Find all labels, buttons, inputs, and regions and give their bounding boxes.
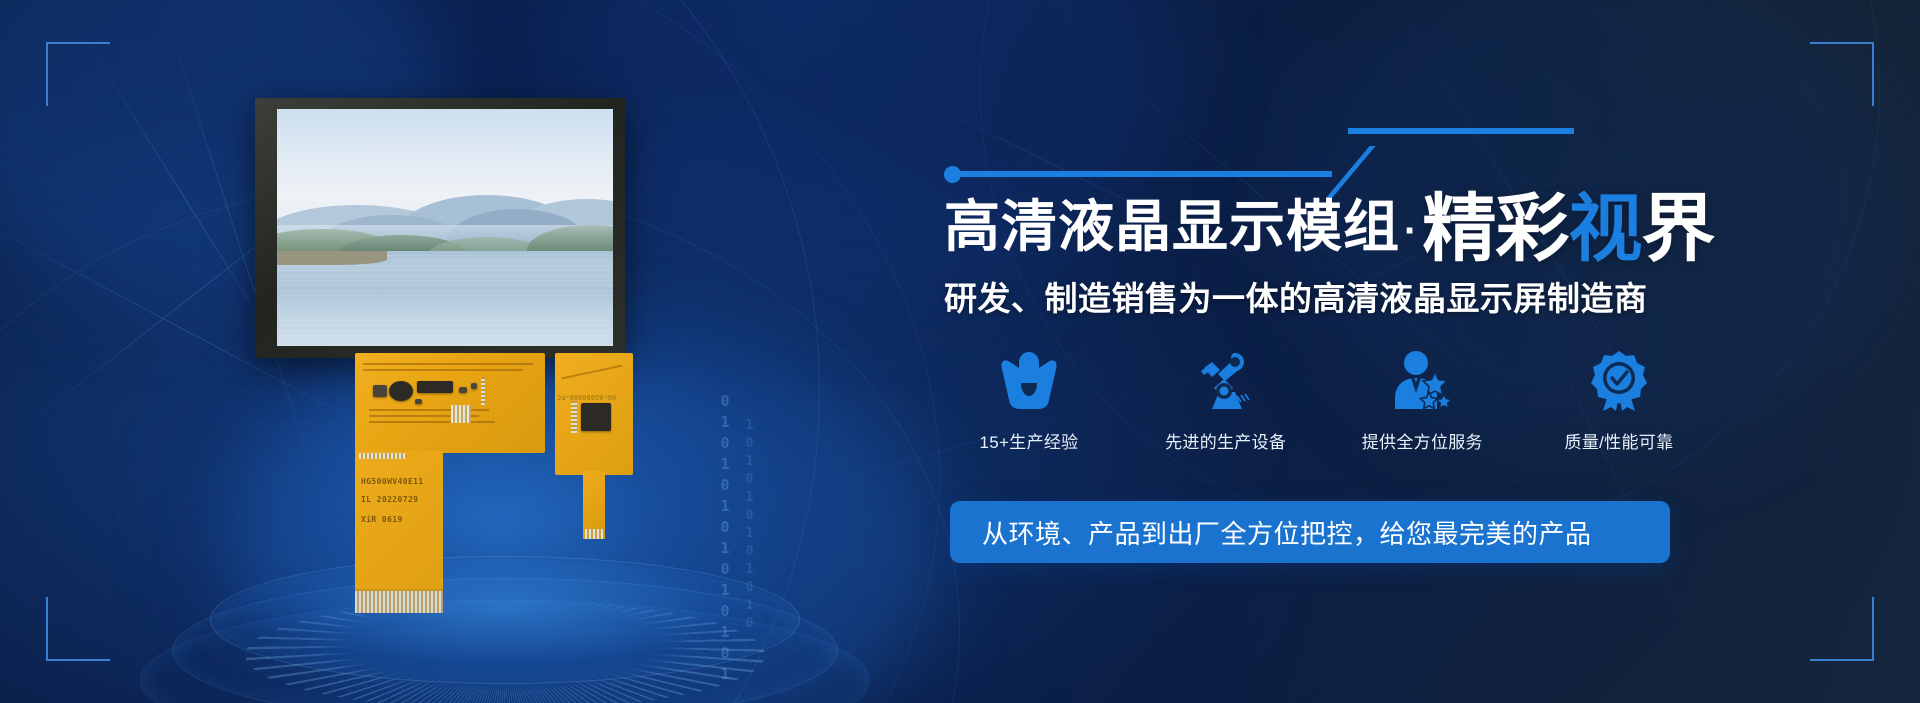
fpc-tail: HG500WV40E11 IL 20220729 XiR 0619 — [355, 451, 443, 613]
fpc-component — [471, 383, 477, 389]
corner-bracket-bottom-right — [1810, 597, 1874, 661]
fpc-component — [459, 387, 467, 393]
feature-list: 15+生产经验 — [944, 348, 1704, 453]
corner-bracket-bottom-left — [46, 597, 110, 661]
fpc-connector — [355, 589, 443, 613]
headline-prefix: 高清液晶显示模组 — [944, 195, 1400, 258]
headline-separator: · — [1400, 209, 1422, 253]
feature-label: 质量/性能可靠 — [1565, 428, 1674, 453]
corner-bracket-top-left — [46, 42, 110, 106]
accent-line-diagonal — [1326, 146, 1376, 198]
bg-arc — [980, 0, 1880, 540]
cta-banner[interactable]: 从环境、产品到出厂全方位把控，给您最完美的产品 — [950, 501, 1670, 563]
feature-item-service: 提供全方位服务 — [1337, 348, 1507, 453]
fpc-side-label: HG-62080060-FC — [557, 393, 616, 401]
corner-bracket-top-right — [1810, 42, 1874, 106]
fpc-side-board: HG-62080060-FC — [555, 353, 633, 475]
quality-badge-icon — [1590, 348, 1648, 412]
headline-brand-part2: 视 — [1568, 187, 1641, 270]
feature-item-experience: 15+生产经验 — [944, 348, 1114, 453]
cta-text: 从环境、产品到出厂全方位把控，给您最完美的产品 — [950, 514, 1592, 551]
product-image: HG500WV40E11 IL 20220729 XiR 0619 HG-620… — [255, 98, 735, 618]
headline-brand-part1: 精彩 — [1422, 187, 1568, 270]
screen-shore — [277, 251, 387, 265]
fpc-date-label: IL 20220729 — [361, 495, 418, 504]
fpc-component — [417, 381, 453, 393]
page-subtitle: 研发、制造销售为一体的高清液晶显示屏制造商 — [944, 272, 1648, 320]
accent-line-segment — [1348, 128, 1574, 134]
fpc-main-board — [355, 353, 545, 453]
feature-label: 提供全方位服务 — [1362, 428, 1483, 453]
fpc-pad — [359, 453, 405, 459]
fpc-component — [415, 399, 422, 404]
robot-arm-icon — [1194, 348, 1258, 412]
fpc-lot-label: XiR 0619 — [361, 515, 403, 524]
page-title: 高清液晶显示模组·精彩视界 — [944, 192, 1714, 266]
feature-item-equipment: 先进的生产设备 — [1141, 348, 1311, 453]
headline-accent-line — [944, 126, 1574, 182]
flex-pcb-assembly: HG500WV40E11 IL 20220729 XiR 0619 HG-620… — [355, 353, 685, 618]
fpc-pad — [585, 529, 603, 539]
fpc-model-label: HG500WV40E11 — [361, 477, 424, 486]
feature-label: 先进的生产设备 — [1165, 428, 1286, 453]
lcd-module-frame — [255, 98, 625, 358]
fpc-pad — [481, 377, 485, 405]
fpc-component — [389, 381, 413, 401]
fpc-component — [581, 403, 611, 431]
feature-item-quality: 质量/性能可靠 — [1534, 348, 1704, 453]
crown-icon — [999, 348, 1059, 412]
hero-banner: 01010101010101 101010101010 — [0, 0, 1920, 703]
lcd-screen — [277, 109, 613, 346]
screen-water — [277, 251, 613, 346]
headline-brand-part3: 界 — [1641, 187, 1714, 270]
fpc-pad — [571, 401, 577, 433]
fpc-component — [373, 385, 387, 397]
feature-label: 15+生产经验 — [980, 428, 1079, 453]
accent-line-segment — [956, 171, 1332, 177]
binary-decoration-secondary: 101010101010 — [742, 418, 757, 634]
fpc-side-tail — [583, 471, 605, 539]
person-stars-icon — [1391, 348, 1453, 412]
fpc-pad — [451, 405, 471, 423]
